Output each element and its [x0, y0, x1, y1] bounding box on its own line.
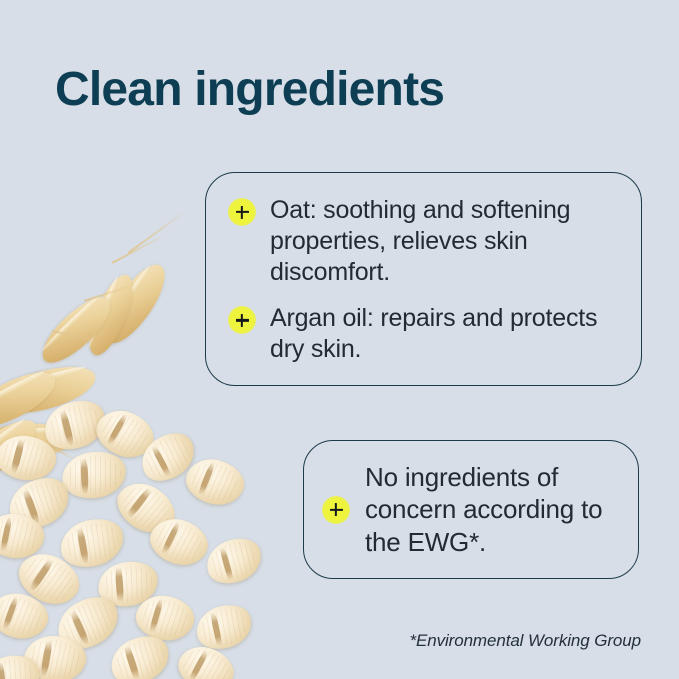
page-title: Clean ingredients	[55, 64, 444, 116]
oat-flake	[0, 510, 47, 562]
oat-husk	[33, 288, 119, 373]
oat-flake	[11, 544, 88, 615]
oat-flake	[49, 588, 127, 659]
oat-flake	[172, 638, 240, 679]
oat-husk	[0, 422, 75, 458]
ingredients-card: Oat: soothing and softening properties, …	[205, 172, 642, 386]
oat-flake	[144, 511, 214, 574]
oat-flake	[38, 394, 111, 457]
oat-flake	[132, 590, 198, 645]
oat-awn	[40, 440, 81, 463]
oat-flake	[0, 431, 59, 485]
oat-flake	[0, 587, 53, 645]
oat-flake	[60, 449, 128, 501]
oat-husk	[0, 410, 45, 492]
plus-badge-icon	[228, 198, 256, 226]
oat-husk	[0, 357, 100, 422]
oat-flake	[1, 469, 76, 536]
oat-husk	[95, 256, 175, 351]
oat-flake	[104, 628, 176, 679]
list-item-label: No ingredients of concern according to t…	[365, 461, 624, 559]
list-item: Oat: soothing and softening properties, …	[228, 195, 623, 287]
poster: Clean ingredients Oat: soothing and soft…	[0, 0, 679, 679]
ewg-card: No ingredients of concern according to t…	[303, 440, 639, 579]
oat-husk	[0, 362, 63, 439]
list-item-label: Oat: soothing and softening properties, …	[270, 195, 623, 287]
oat-awn	[128, 209, 189, 254]
oat-flake	[201, 532, 268, 591]
oat-awn	[52, 330, 103, 342]
oat-flake	[0, 651, 43, 679]
oat-flake	[181, 452, 250, 512]
oat-awn	[84, 282, 140, 301]
list-item-label: Argan oil: repairs and protects dry skin…	[270, 303, 623, 365]
list-item: No ingredients of concern according to t…	[322, 461, 624, 559]
oat-flake	[89, 402, 160, 467]
footnote: *Environmental Working Group	[409, 631, 641, 651]
oat-flake	[133, 424, 203, 489]
plus-badge-icon	[322, 496, 350, 524]
plus-badge-icon	[228, 306, 256, 334]
oat-husk	[81, 270, 141, 361]
oat-flake	[55, 513, 128, 573]
oat-flake	[191, 599, 256, 655]
oat-flake	[95, 558, 161, 610]
oat-flake	[109, 473, 183, 543]
list-item: Argan oil: repairs and protects dry skin…	[228, 303, 623, 365]
oat-awn	[112, 233, 167, 264]
oat-flake	[22, 633, 88, 679]
